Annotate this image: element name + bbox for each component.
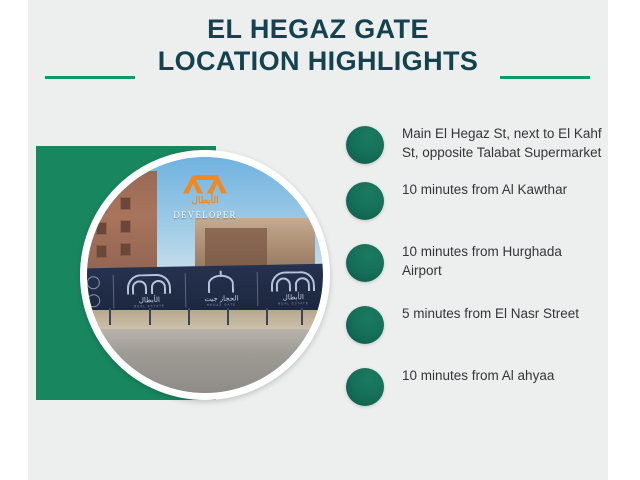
mountain-logo-icon <box>182 174 228 194</box>
partner-icon-2 <box>87 294 100 307</box>
road <box>87 329 323 393</box>
partner-icon-1 <box>87 276 100 289</box>
highlight-text: 10 minutes from Al ahyaa <box>402 366 554 385</box>
crest-sub-2: HEGAZ GATE <box>207 302 236 307</box>
bullet-dot-icon <box>346 244 384 282</box>
highlights-list: Main El Hegaz St, next to El Kahf St, op… <box>346 124 608 422</box>
list-item: 5 minutes from El Nasr Street <box>346 304 608 344</box>
title-line-2: LOCATION HIGHLIGHTS <box>28 45 608 78</box>
list-item: 10 minutes from Hurghada Airport <box>346 242 608 282</box>
crest-arabic-2: الحجاز جيت <box>204 294 238 303</box>
highlight-text: 10 minutes from Hurghada Airport <box>402 242 602 280</box>
crest-sub-1: REAL ESTATE <box>134 303 165 308</box>
bullet-dot-icon <box>346 182 384 220</box>
banner-crest-1: الأبطال REAL ESTATE <box>126 273 173 308</box>
bullet-dot-icon <box>346 126 384 164</box>
crest-arabic-3: الأبطال <box>283 292 304 300</box>
bullet-dot-icon <box>346 306 384 344</box>
highlight-text: 5 minutes from El Nasr Street <box>402 304 579 323</box>
bullet-dot-icon <box>346 368 384 406</box>
banner-divider-3 <box>256 271 258 305</box>
banner-divider-1 <box>112 274 114 308</box>
title-line-1: EL HEGAZ GATE <box>28 14 608 45</box>
header-rule-right <box>500 76 590 79</box>
logo-developer: DEVELOPER <box>160 210 250 220</box>
developer-logo: الأبطال REAL ESTATE DEVELOPER <box>160 174 250 220</box>
logo-arabic: الأبطال <box>160 195 250 206</box>
header-rule-left <box>45 76 135 79</box>
crest-sub-3: REAL ESTATE <box>278 300 309 305</box>
list-item: Main El Hegaz St, next to El Kahf St, op… <box>346 124 608 164</box>
highlight-text: Main El Hegaz St, next to El Kahf St, op… <box>402 124 602 162</box>
banner-partner-icons <box>87 276 101 307</box>
photo-inner: الأبطال REAL ESTATE الحجاز جيت HEGAZ GAT… <box>87 157 323 393</box>
banner-crest-3: الأبطال REAL ESTATE <box>270 270 317 305</box>
poster-canvas: EL HEGAZ GATE LOCATION HIGHLIGHTS <box>28 0 608 480</box>
page-title: EL HEGAZ GATE LOCATION HIGHLIGHTS <box>28 14 608 78</box>
dome-icon <box>208 274 234 292</box>
photo-composition: الأبطال REAL ESTATE الحجاز جيت HEGAZ GAT… <box>28 110 348 410</box>
poster-header: EL HEGAZ GATE LOCATION HIGHLIGHTS <box>28 14 608 106</box>
banner-crest-2: الحجاز جيت HEGAZ GATE <box>198 271 245 306</box>
banner-posts <box>96 308 313 325</box>
list-item: 10 minutes from Al Kawthar <box>346 180 608 220</box>
arches-icon <box>127 273 171 294</box>
arches-icon-2 <box>271 270 315 291</box>
crest-arabic-1: الأبطال <box>139 295 160 303</box>
highlight-text: 10 minutes from Al Kawthar <box>402 180 567 199</box>
project-photo: الأبطال REAL ESTATE الحجاز جيت HEGAZ GAT… <box>80 150 330 400</box>
list-item: 10 minutes from Al ahyaa <box>346 366 608 406</box>
banner-divider-2 <box>184 273 186 307</box>
